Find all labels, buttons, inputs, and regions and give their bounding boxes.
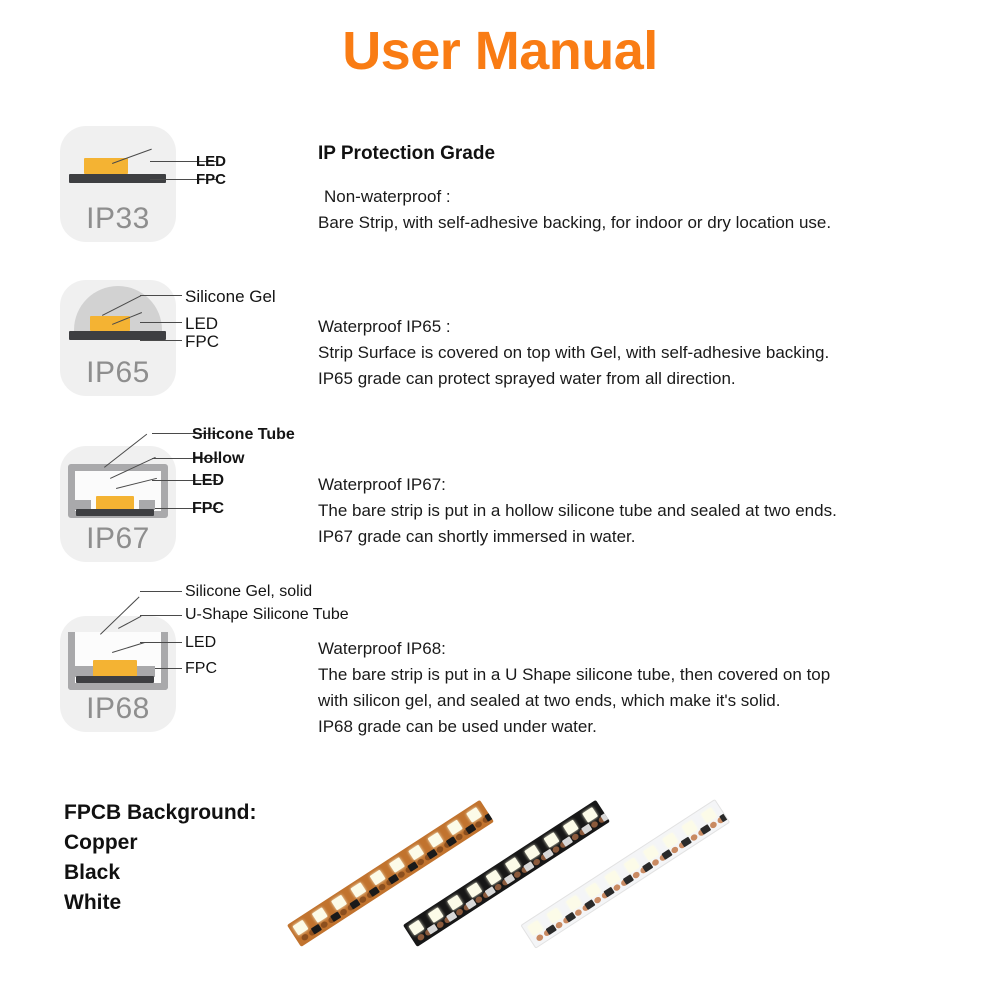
- fpcb-option-copper: Copper: [64, 828, 138, 858]
- callout-ip67-led: LED: [192, 473, 224, 489]
- callout-ip68-fpc: FPC: [185, 661, 217, 677]
- ip68-tile-label: IP68: [60, 692, 176, 726]
- callout-ip33-fpc: FPC: [196, 172, 226, 187]
- leader-line-u-shape-tube: [140, 615, 182, 616]
- led-chip-icon: [96, 496, 134, 510]
- solder-pad-icon: [300, 933, 309, 942]
- ip33-icon-tile: IP33: [60, 126, 176, 242]
- ip65-body-text: Strip Surface is covered on top with Gel…: [318, 340, 829, 392]
- copper-led-strip-photo: [287, 800, 494, 947]
- ip33-body-text: Bare Strip, with self-adhesive backing, …: [318, 210, 831, 236]
- fpcb-background-title: FPCB Background:: [64, 798, 257, 828]
- callout-ip65-led: LED: [185, 315, 218, 332]
- leader-line-led: [140, 322, 182, 323]
- leader-line-fpc: [140, 340, 182, 341]
- fpcb-option-white: White: [64, 888, 121, 918]
- leader-line-silicone-gel: [140, 295, 182, 296]
- callout-ip65-fpc: FPC: [185, 333, 219, 350]
- ip68-body-text: The bare strip is put in a U Shape silic…: [318, 662, 830, 740]
- led-strip-photo-group: [280, 765, 880, 945]
- ip67-heading-text: Waterproof IP67:: [318, 472, 446, 498]
- leader-line-led: [140, 642, 182, 643]
- ip33-tile-label: IP33: [60, 202, 176, 236]
- leader-line-silicone-gel-solid: [140, 591, 182, 592]
- ip65-heading-text: Waterproof IP65 :: [318, 314, 451, 340]
- callout-ip65-silicone-gel: Silicone Gel: [185, 288, 276, 305]
- callout-ip33-led: LED: [196, 154, 226, 169]
- ip33-heading-text: Non-waterproof :: [324, 184, 451, 210]
- page-title: User Manual: [0, 22, 1000, 81]
- section-heading: IP Protection Grade: [318, 143, 495, 165]
- led-chip-icon: [93, 660, 137, 677]
- fpc-board-icon: [69, 331, 166, 340]
- ip68-icon-tile: IP68: [60, 616, 176, 732]
- white-led-strip-photo: [520, 799, 730, 949]
- fpc-board-icon: [76, 509, 154, 516]
- callout-ip68-silicone-gel-solid: Silicone Gel, solid: [185, 584, 312, 600]
- ip68-heading-text: Waterproof IP68:: [318, 636, 446, 662]
- ip67-body-text: The bare strip is put in a hollow silico…: [318, 498, 837, 550]
- ip65-icon-tile: IP65: [60, 280, 176, 396]
- callout-ip67-silicone-tube: Silicone Tube: [192, 427, 295, 443]
- callout-ip67-fpc: FPC: [192, 501, 224, 517]
- ip65-tile-label: IP65: [60, 356, 176, 390]
- callout-ip68-u-shape-tube: U-Shape Silicone Tube: [185, 607, 349, 623]
- solder-pad-icon: [535, 933, 544, 942]
- solder-pad-icon: [416, 933, 425, 942]
- fpcb-option-black: Black: [64, 858, 120, 888]
- fpc-board-icon: [76, 676, 154, 683]
- black-led-strip-photo: [403, 800, 610, 947]
- callout-ip67-hollow: Hollow: [192, 451, 244, 467]
- ip67-icon-tile: IP67: [60, 446, 176, 562]
- ip67-tile-label: IP67: [60, 522, 176, 556]
- callout-ip68-led: LED: [185, 635, 216, 651]
